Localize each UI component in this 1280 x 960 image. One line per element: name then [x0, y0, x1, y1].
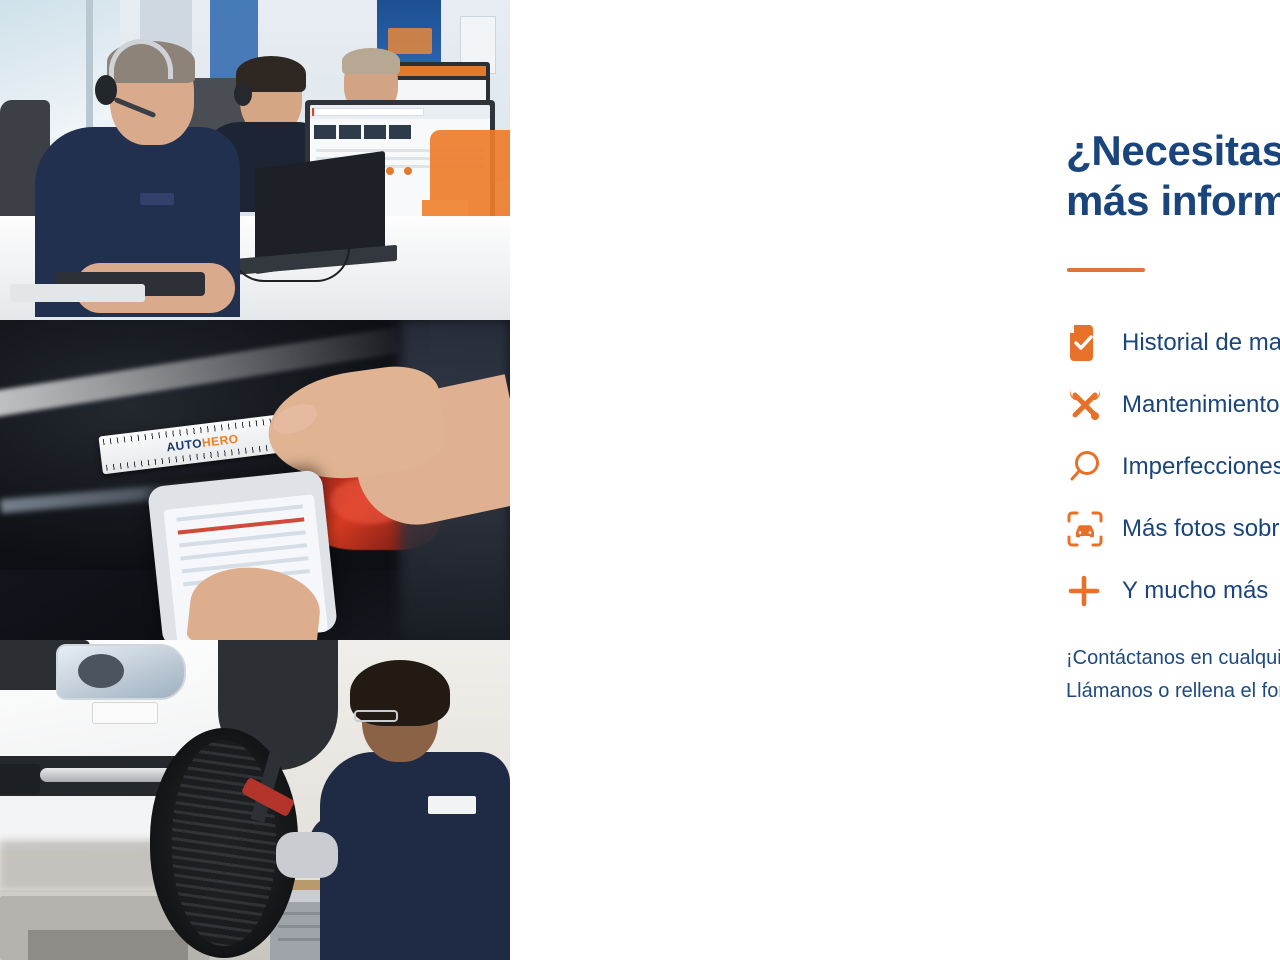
- magnifier-icon: [1066, 449, 1122, 485]
- content-panel: ¿Necesitas más información? Estamos enca…: [510, 0, 1280, 960]
- page-title: ¿Necesitas más información?: [1066, 126, 1280, 225]
- feature-item-fotos: Más fotos sobre el coche: [1066, 498, 1280, 560]
- tyre-tread: [172, 740, 276, 946]
- headline-line-1: ¿Necesitas: [1066, 127, 1280, 174]
- number-plate: [92, 702, 158, 724]
- desk-cable: [230, 248, 350, 282]
- desk-pad: [10, 284, 145, 302]
- info-panel-page: AUTOHERO: [0, 0, 1280, 960]
- ruler-logo-hero: HERO: [201, 432, 239, 450]
- contact-line-2: Llámanos o rellena el formulario de cont…: [1066, 675, 1280, 708]
- feature-item-imperfecciones: Imperfecciones: [1066, 436, 1280, 498]
- feature-label: Y mucho más: [1122, 577, 1268, 605]
- workshop-wheel-photo: [0, 640, 510, 960]
- headlight-projector: [78, 654, 124, 688]
- wall-poster-accent: [388, 28, 432, 54]
- car-scan-icon: [1066, 510, 1122, 548]
- call-centre-agents-photo: [0, 0, 510, 320]
- workshop-technician: [320, 656, 510, 960]
- feature-item-mucho-mas: Y mucho más: [1066, 560, 1280, 622]
- title-underline-rule: [1067, 268, 1145, 272]
- ruler-logo-auto: AUTO: [166, 436, 203, 454]
- feature-item-historial: Historial de mantenimientos: [1066, 312, 1280, 374]
- feature-label: Historial de mantenimientos: [1122, 329, 1280, 357]
- contact-line-1: ¡Contáctanos en cualquier momento para m…: [1066, 642, 1280, 675]
- feature-label: Imperfecciones: [1122, 453, 1280, 481]
- document-check-icon: [1066, 324, 1122, 362]
- photo-column: AUTOHERO: [0, 0, 510, 960]
- plus-icon: [1066, 573, 1122, 609]
- vehicle-inspection-photo: AUTOHERO: [0, 320, 510, 640]
- feature-label: Más fotos sobre el coche: [1122, 515, 1280, 543]
- feature-item-mantenimiento: Mantenimiento realizado: [1066, 374, 1280, 436]
- feature-list: Historial de mantenimientos Mantenimient…: [1066, 312, 1280, 622]
- contact-text: ¡Contáctanos en cualquier momento para m…: [1066, 642, 1280, 708]
- feature-label: Mantenimiento realizado: [1122, 391, 1280, 419]
- fog-light: [0, 764, 40, 794]
- headline-line-2: más información?: [1066, 177, 1280, 224]
- wrench-screwdriver-icon: [1066, 386, 1122, 424]
- car-lift-post: [28, 930, 188, 960]
